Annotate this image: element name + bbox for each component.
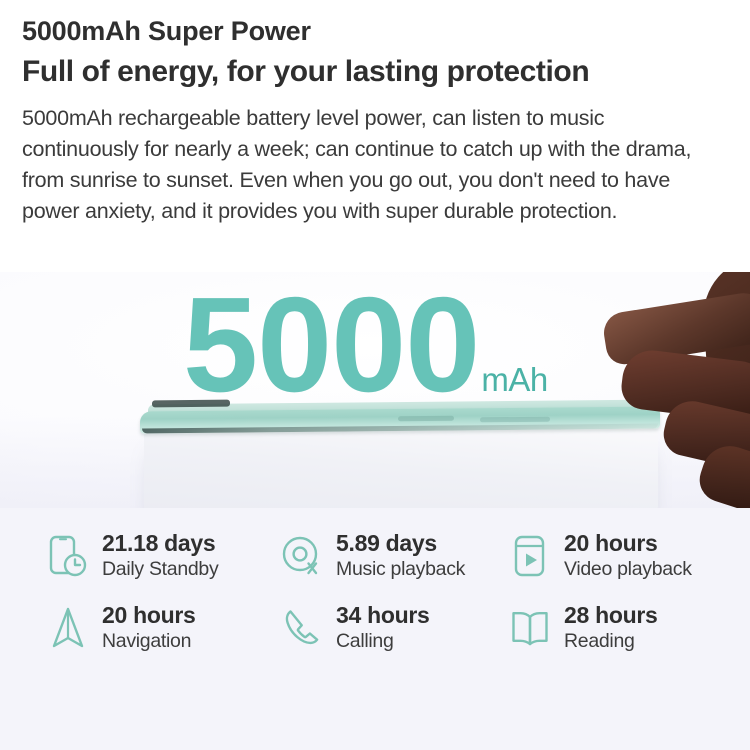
feature-label: Video playback — [564, 558, 692, 582]
feature-label: Music playback — [336, 558, 465, 582]
feature-row-2: 20 hours Navigation 34 hours Calling — [0, 602, 750, 654]
feature-label: Reading — [564, 630, 657, 654]
feature-value: 21.18 days — [102, 530, 218, 557]
phone-handset-icon — [280, 603, 324, 653]
phone-clock-icon — [46, 531, 90, 581]
capacity-unit: mAh — [481, 363, 547, 396]
feature-label: Calling — [336, 630, 429, 654]
feature-text: 28 hours Reading — [564, 602, 657, 654]
vinyl-record-icon — [280, 531, 324, 581]
feature-text: 5.89 days Music playback — [336, 530, 465, 582]
feature-value: 20 hours — [564, 530, 692, 557]
hand-holding-phone — [596, 272, 750, 520]
open-book-icon — [508, 603, 552, 653]
copy-block: 5000mAh Super Power Full of energy, for … — [22, 14, 722, 227]
feature-item-daily-standby: 21.18 days Daily Standby — [0, 530, 272, 582]
feature-value: 5.89 days — [336, 530, 465, 557]
feature-value: 20 hours — [102, 602, 195, 629]
hero-product-scene: 5000 mAh — [0, 272, 750, 520]
phone-front-face — [144, 427, 658, 520]
feature-value: 34 hours — [336, 602, 429, 629]
phone-camera-strip — [152, 400, 230, 408]
feature-text: 21.18 days Daily Standby — [102, 530, 218, 582]
product-feature-page: 5000mAh Super Power Full of energy, for … — [0, 0, 750, 750]
feature-text: 34 hours Calling — [336, 602, 429, 654]
feature-label: Navigation — [102, 630, 195, 654]
feature-value: 28 hours — [564, 602, 657, 629]
feature-item-calling: 34 hours Calling — [272, 602, 502, 654]
page-subtitle: Full of energy, for your lasting protect… — [22, 52, 722, 93]
feature-grid: 21.18 days Daily Standby 5.89 days Music… — [0, 508, 750, 750]
feature-text: 20 hours Navigation — [102, 602, 195, 654]
description-paragraph: 5000mAh rechargeable battery level power… — [22, 103, 722, 227]
capacity-number: 5000 — [183, 277, 479, 412]
feature-item-music-playback: 5.89 days Music playback — [272, 530, 502, 582]
feature-item-video-playback: 20 hours Video playback — [502, 530, 750, 582]
feature-text: 20 hours Video playback — [564, 530, 692, 582]
feature-item-reading: 28 hours Reading — [502, 602, 750, 654]
video-play-icon — [508, 531, 552, 581]
navigation-arrow-icon — [46, 603, 90, 653]
page-title: 5000mAh Super Power — [22, 14, 722, 50]
feature-label: Daily Standby — [102, 558, 218, 582]
phone-product-image — [140, 402, 660, 442]
feature-item-navigation: 20 hours Navigation — [0, 602, 272, 654]
phone-volume-button — [398, 416, 454, 422]
feature-row-1: 21.18 days Daily Standby 5.89 days Music… — [0, 530, 750, 582]
capacity-display: 5000 mAh — [183, 277, 548, 412]
phone-power-button — [480, 417, 550, 423]
